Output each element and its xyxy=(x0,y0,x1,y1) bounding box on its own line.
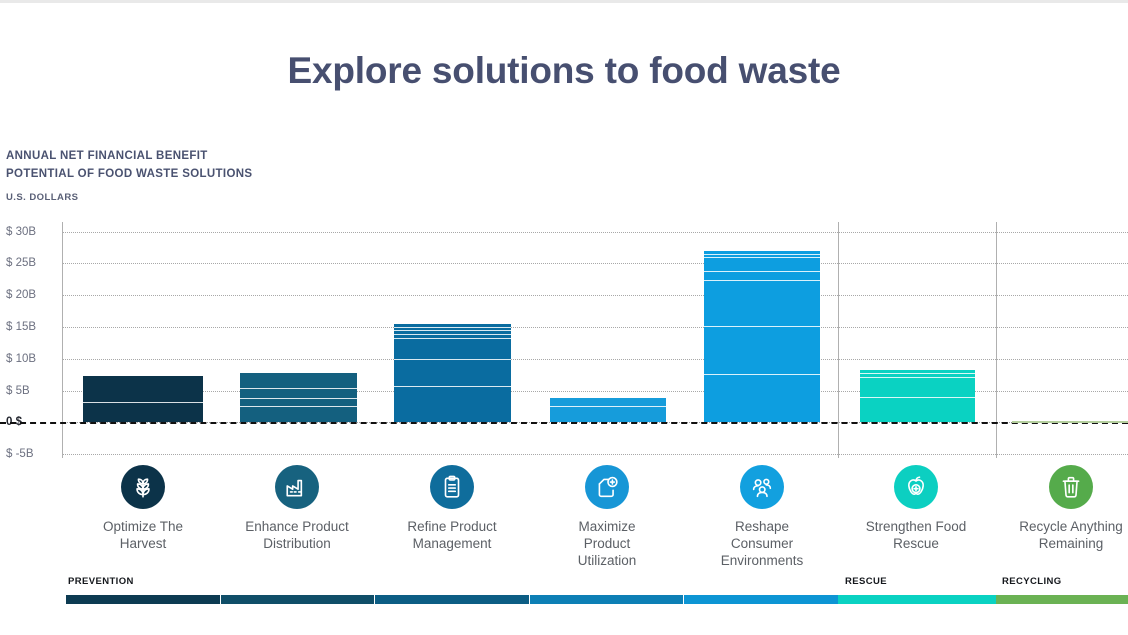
chart-bar[interactable] xyxy=(550,398,666,423)
solution-label: Optimize TheHarvest xyxy=(68,518,218,552)
chart-bar[interactable] xyxy=(1012,421,1128,423)
chart-bar-segment xyxy=(240,398,357,406)
apple-plus-icon[interactable] xyxy=(894,465,938,509)
solution-icons-row: Optimize TheHarvestEnhance ProductDistri… xyxy=(0,465,1128,573)
page-title: Explore solutions to food waste xyxy=(0,50,1128,92)
chart-bar[interactable] xyxy=(240,373,357,423)
category-footer: PREVENTIONRESCUERECYCLING xyxy=(0,576,1128,606)
category-group[interactable]: RESCUE xyxy=(845,576,887,587)
chart-bar[interactable] xyxy=(860,370,975,422)
solution-item[interactable]: Optimize TheHarvest xyxy=(68,465,218,552)
solution-label: MaximizeProductUtilization xyxy=(532,518,682,569)
y-axis-tick-label: $ 20B xyxy=(6,289,36,301)
clipboard-icon[interactable] xyxy=(430,465,474,509)
chart-bar-segment xyxy=(704,257,820,271)
solution-item[interactable]: Enhance ProductDistribution xyxy=(222,465,372,552)
category-color-segment xyxy=(221,595,376,604)
trash-icon[interactable] xyxy=(1049,465,1093,509)
top-divider xyxy=(0,0,1128,3)
solution-item[interactable]: MaximizeProductUtilization xyxy=(532,465,682,569)
solution-item[interactable]: Refine ProductManagement xyxy=(377,465,527,552)
category-group[interactable]: PREVENTION xyxy=(68,576,134,587)
chart-caption-line-1: ANNUAL NET FINANCIAL BENEFIT xyxy=(6,147,252,165)
chart-bar-segment xyxy=(394,386,511,422)
chart-bar-segment xyxy=(240,406,357,423)
chart-bar[interactable] xyxy=(394,324,511,423)
y-axis-tick-label: $ 15B xyxy=(6,321,36,333)
solution-label: Recycle AnythingRemaining xyxy=(996,518,1128,552)
gridline xyxy=(62,359,1128,360)
factory-icon[interactable] xyxy=(275,465,319,509)
gridline xyxy=(62,263,1128,264)
category-color-segment xyxy=(996,595,1128,604)
category-color-segment xyxy=(375,595,530,604)
solution-label: Enhance ProductDistribution xyxy=(222,518,372,552)
category-color-segment xyxy=(530,595,685,604)
chart-caption: ANNUAL NET FINANCIAL BENEFIT POTENTIAL O… xyxy=(6,147,252,203)
category-color-segment xyxy=(838,595,996,604)
chart-bar-segment xyxy=(394,359,511,386)
chart-bar-segment xyxy=(240,373,357,389)
y-axis-tick-label: $ 10B xyxy=(6,353,36,365)
chart-bar-segment xyxy=(550,398,666,406)
wheat-icon[interactable] xyxy=(121,465,165,509)
y-axis-tick-label: $ -5B xyxy=(6,448,34,460)
gridline xyxy=(62,295,1128,296)
chart-bar-segment xyxy=(550,406,666,423)
chart-units-label: U.S. DOLLARS xyxy=(6,192,252,203)
chart-bar-segment xyxy=(704,280,820,326)
solution-item[interactable]: Strengthen FoodRescue xyxy=(841,465,991,552)
people-icon[interactable] xyxy=(740,465,784,509)
gridline xyxy=(62,454,1128,455)
chart-bar-segment xyxy=(860,397,975,422)
category-label: RESCUE xyxy=(845,576,887,587)
chart-bar[interactable] xyxy=(704,251,820,423)
y-axis-tick-label: $ 5B xyxy=(6,385,30,397)
zero-baseline xyxy=(0,422,1128,424)
solution-label: Refine ProductManagement xyxy=(377,518,527,552)
y-axis-tick-label: $ 25B xyxy=(6,257,36,269)
category-color-segment xyxy=(66,595,221,604)
chart-caption-line-2: POTENTIAL OF FOOD WASTE SOLUTIONS xyxy=(6,165,252,183)
solution-item[interactable]: ReshapeConsumerEnvironments xyxy=(687,465,837,569)
solution-label: Strengthen FoodRescue xyxy=(841,518,991,552)
add-box-icon[interactable] xyxy=(585,465,629,509)
chart-bar-segment xyxy=(704,271,820,281)
chart-bar-segment xyxy=(704,326,820,374)
category-group[interactable]: RECYCLING xyxy=(1002,576,1062,587)
chart-bar-segment xyxy=(83,376,203,402)
category-color-bar xyxy=(996,595,1128,604)
category-color-bar xyxy=(838,595,996,604)
category-color-bar xyxy=(66,595,838,604)
category-label: RECYCLING xyxy=(1002,576,1062,587)
category-color-segment xyxy=(684,595,838,604)
solution-item[interactable]: Recycle AnythingRemaining xyxy=(996,465,1128,552)
chart-plot-area: $ 30B$ 25B$ 20B$ 15B$ 10B$ 5B0 $$ -5B xyxy=(0,222,1128,467)
solution-label: ReshapeConsumerEnvironments xyxy=(687,518,837,569)
gridline xyxy=(62,327,1128,328)
chart-bar-segment xyxy=(704,374,820,422)
chart-bar[interactable] xyxy=(83,376,203,422)
chart-bar-segment xyxy=(394,338,511,359)
y-axis-tick-label: $ 30B xyxy=(6,226,36,238)
chart-bar-segment xyxy=(860,377,975,397)
gridline xyxy=(62,232,1128,233)
category-label: PREVENTION xyxy=(68,576,134,587)
chart-bar-segment xyxy=(83,402,203,423)
chart-bar-segment xyxy=(240,388,357,398)
